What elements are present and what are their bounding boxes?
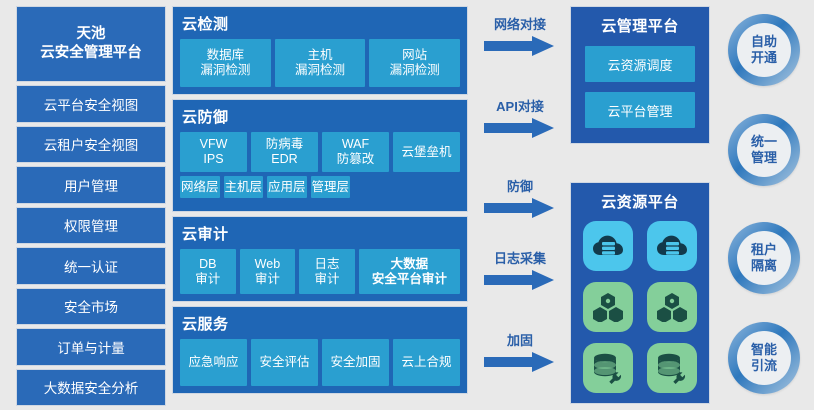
cell-line2: 漏洞检测 bbox=[390, 63, 440, 78]
circle-line2: 管理 bbox=[751, 150, 777, 166]
group-title: 云审计 bbox=[182, 223, 460, 244]
arrow-label: 防御 bbox=[470, 176, 570, 195]
group-cloud-defense: 云防御 VFW IPS 防病毒 EDR WAF 防篡改 云堡垒机 bbox=[172, 99, 468, 212]
sidebar-header-line1: 天池 bbox=[77, 25, 106, 44]
arrow-label: 加固 bbox=[470, 330, 570, 349]
layer-host[interactable]: 主机层 bbox=[224, 176, 264, 198]
circle-line1: 统一 bbox=[751, 134, 777, 150]
capability-groups: 云检测 数据库 漏洞检测 主机 漏洞检测 网站 漏洞检测 云防御 bbox=[172, 6, 468, 406]
capability-db-vuln-scan[interactable]: 数据库 漏洞检测 bbox=[180, 39, 271, 87]
group-cloud-audit: 云审计 DB 审计 Web 审计 日志 审计 大数据 安全平台审计 bbox=[172, 216, 468, 302]
cell-line1: WAF bbox=[342, 137, 369, 152]
cloud-server-icon bbox=[583, 221, 633, 271]
cell-line1: Web bbox=[255, 257, 280, 272]
cell-line2: 漏洞检测 bbox=[295, 63, 345, 78]
circle-line1: 租户 bbox=[751, 242, 777, 258]
group-row: 数据库 漏洞检测 主机 漏洞检测 网站 漏洞检测 bbox=[180, 39, 460, 87]
feature-circle-intelligent-traffic-steering[interactable]: 智能 引流 bbox=[728, 322, 800, 394]
feature-circle-unified-management[interactable]: 统一 管理 bbox=[728, 114, 800, 186]
capability-cloud-bastion-host[interactable]: 云堡垒机 bbox=[393, 132, 460, 172]
arrow-network-integration: 网络对接 bbox=[470, 14, 570, 56]
cell-line2: IPS bbox=[203, 152, 223, 167]
cell-line1: 主机层 bbox=[225, 180, 263, 195]
group-row-layers: 网络层 主机层 应用层 管理层 bbox=[180, 176, 460, 204]
feature-circle-inner: 统一 管理 bbox=[737, 123, 791, 177]
capability-cloud-compliance[interactable]: 云上合规 bbox=[393, 339, 460, 386]
cell-line2: 防篡改 bbox=[337, 152, 375, 167]
sidebar: 天池 云安全管理平台 云平台安全视图 云租户安全视图 用户管理 权限管理 统一认… bbox=[16, 6, 166, 406]
capability-waf-antitamper[interactable]: WAF 防篡改 bbox=[322, 132, 389, 172]
sidebar-item-label: 用户管理 bbox=[64, 175, 118, 195]
diagram-root: 天池 云安全管理平台 云平台安全视图 云租户安全视图 用户管理 权限管理 统一认… bbox=[0, 0, 814, 410]
platform-cell-label: 云资源调度 bbox=[607, 55, 672, 74]
group-title: 云检测 bbox=[182, 13, 460, 34]
cell-line1: VFW bbox=[200, 137, 228, 152]
layer-management[interactable]: 管理层 bbox=[311, 176, 351, 198]
cell-line1: 大数据 bbox=[391, 257, 429, 272]
cell-line1: 管理层 bbox=[312, 180, 350, 195]
sidebar-item-label: 云租户安全视图 bbox=[44, 134, 139, 154]
circle-line2: 引流 bbox=[751, 358, 777, 374]
feature-circle-inner: 租户 隔离 bbox=[737, 231, 791, 285]
arrow-right-icon bbox=[484, 36, 556, 56]
group-cloud-detection: 云检测 数据库 漏洞检测 主机 漏洞检测 网站 漏洞检测 bbox=[172, 6, 468, 95]
sidebar-item-label: 权限管理 bbox=[64, 215, 118, 235]
feature-circle-inner: 智能 引流 bbox=[737, 331, 791, 385]
cell-line1: DB bbox=[199, 257, 216, 272]
sidebar-item-unified-authentication[interactable]: 统一认证 bbox=[16, 247, 166, 285]
sidebar-item-label: 大数据安全分析 bbox=[44, 377, 139, 397]
sidebar-item-label: 订单与计量 bbox=[57, 337, 125, 357]
feature-circle-inner: 自助 开通 bbox=[737, 23, 791, 77]
cell-line1: 安全评估 bbox=[259, 355, 309, 370]
group-title: 云防御 bbox=[182, 106, 460, 127]
group-row: 应急响应 安全评估 安全加固 云上合规 bbox=[180, 339, 460, 386]
feature-circle-self-service-provisioning[interactable]: 自助 开通 bbox=[728, 14, 800, 86]
capability-log-audit[interactable]: 日志 审计 bbox=[299, 249, 355, 294]
cloud-resource-scheduling[interactable]: 云资源调度 bbox=[585, 46, 695, 82]
cell-line1: 主机 bbox=[308, 48, 333, 63]
layer-network[interactable]: 网络层 bbox=[180, 176, 220, 198]
cell-line1: 安全加固 bbox=[330, 355, 380, 370]
capability-web-audit[interactable]: Web 审计 bbox=[240, 249, 296, 294]
sidebar-item-permission-management[interactable]: 权限管理 bbox=[16, 207, 166, 245]
cloud-server-icon bbox=[647, 221, 697, 271]
sidebar-item-cloud-tenant-security-view[interactable]: 云租户安全视图 bbox=[16, 126, 166, 164]
cloud-resource-platform: 云资源平台 bbox=[570, 182, 710, 404]
group-row: DB 审计 Web 审计 日志 审计 大数据 安全平台审计 bbox=[180, 249, 460, 294]
capability-antivirus-edr[interactable]: 防病毒 EDR bbox=[251, 132, 318, 172]
cell-line1: 应急响应 bbox=[188, 355, 238, 370]
sidebar-item-label: 安全市场 bbox=[64, 296, 118, 316]
resource-icon-grid bbox=[583, 221, 697, 393]
database-wrench-icon bbox=[647, 343, 697, 393]
capability-security-hardening[interactable]: 安全加固 bbox=[322, 339, 389, 386]
arrow-log-collection: 日志采集 bbox=[470, 248, 570, 290]
platform-cell-label: 云平台管理 bbox=[607, 101, 672, 120]
sidebar-header-line2: 云安全管理平台 bbox=[40, 44, 142, 63]
layer-application[interactable]: 应用层 bbox=[267, 176, 307, 198]
sidebar-item-label: 统一认证 bbox=[64, 256, 118, 276]
cell-line1: 日志 bbox=[315, 257, 340, 272]
arrow-right-icon bbox=[484, 198, 556, 218]
group-cloud-service: 云服务 应急响应 安全评估 安全加固 云上合规 bbox=[172, 306, 468, 394]
cloud-management-platform: 云管理平台 云资源调度 云平台管理 bbox=[570, 6, 710, 144]
cloud-platform-management[interactable]: 云平台管理 bbox=[585, 92, 695, 128]
circle-line2: 开通 bbox=[751, 50, 777, 66]
arrow-right-icon bbox=[484, 118, 556, 138]
arrow-defense: 防御 bbox=[470, 176, 570, 218]
sidebar-item-security-marketplace[interactable]: 安全市场 bbox=[16, 288, 166, 326]
arrow-api-integration: API对接 bbox=[470, 96, 570, 138]
group-row: VFW IPS 防病毒 EDR WAF 防篡改 云堡垒机 bbox=[180, 132, 460, 172]
cell-line2: 审计 bbox=[195, 272, 220, 287]
cell-line1: 云上合规 bbox=[401, 355, 451, 370]
cell-line2: 审计 bbox=[255, 272, 280, 287]
cell-line2: 审计 bbox=[315, 272, 340, 287]
cell-line1: 应用层 bbox=[268, 180, 306, 195]
capability-security-assessment[interactable]: 安全评估 bbox=[251, 339, 318, 386]
arrow-label: 网络对接 bbox=[470, 14, 570, 33]
cell-line2: 漏洞检测 bbox=[200, 63, 250, 78]
group-title: 云服务 bbox=[182, 313, 460, 334]
capability-db-audit[interactable]: DB 审计 bbox=[180, 249, 236, 294]
circle-line1: 智能 bbox=[751, 342, 777, 358]
cell-line1: 网络层 bbox=[181, 180, 219, 195]
arrow-label: 日志采集 bbox=[470, 248, 570, 267]
sidebar-header: 天池 云安全管理平台 bbox=[16, 6, 166, 82]
platform-title: 云管理平台 bbox=[601, 15, 679, 36]
capability-website-vuln-scan[interactable]: 网站 漏洞检测 bbox=[369, 39, 460, 87]
cell-line2: EDR bbox=[271, 152, 297, 167]
database-wrench-icon bbox=[583, 343, 633, 393]
sidebar-item-cloud-platform-security-view[interactable]: 云平台安全视图 bbox=[16, 85, 166, 123]
capability-bigdata-security-platform-audit[interactable]: 大数据 安全平台审计 bbox=[359, 249, 460, 294]
sidebar-item-order-and-metering[interactable]: 订单与计量 bbox=[16, 328, 166, 366]
cell-line1: 网站 bbox=[402, 48, 427, 63]
capability-host-vuln-scan[interactable]: 主机 漏洞检测 bbox=[275, 39, 366, 87]
network-nodes-icon bbox=[583, 282, 633, 332]
circle-line1: 自助 bbox=[751, 34, 777, 50]
arrow-hardening: 加固 bbox=[470, 330, 570, 372]
arrow-label: API对接 bbox=[470, 96, 570, 115]
circle-line2: 隔离 bbox=[751, 258, 777, 274]
arrow-right-icon bbox=[484, 270, 556, 290]
sidebar-item-big-data-security-analysis[interactable]: 大数据安全分析 bbox=[16, 369, 166, 407]
feature-circle-tenant-isolation[interactable]: 租户 隔离 bbox=[728, 222, 800, 294]
cell-line1: 数据库 bbox=[207, 48, 245, 63]
capability-vfw-ips[interactable]: VFW IPS bbox=[180, 132, 247, 172]
platform-title: 云资源平台 bbox=[601, 191, 679, 212]
capability-emergency-response[interactable]: 应急响应 bbox=[180, 339, 247, 386]
connector-arrows: 网络对接 API对接 防御 日志采集 加固 bbox=[470, 0, 570, 410]
cell-line1: 防病毒 bbox=[266, 137, 304, 152]
network-nodes-icon bbox=[647, 282, 697, 332]
cell-line1: 云堡垒机 bbox=[401, 145, 451, 160]
sidebar-item-label: 云平台安全视图 bbox=[44, 94, 139, 114]
cell-line2: 安全平台审计 bbox=[372, 272, 447, 287]
sidebar-item-user-management[interactable]: 用户管理 bbox=[16, 166, 166, 204]
arrow-right-icon bbox=[484, 352, 556, 372]
